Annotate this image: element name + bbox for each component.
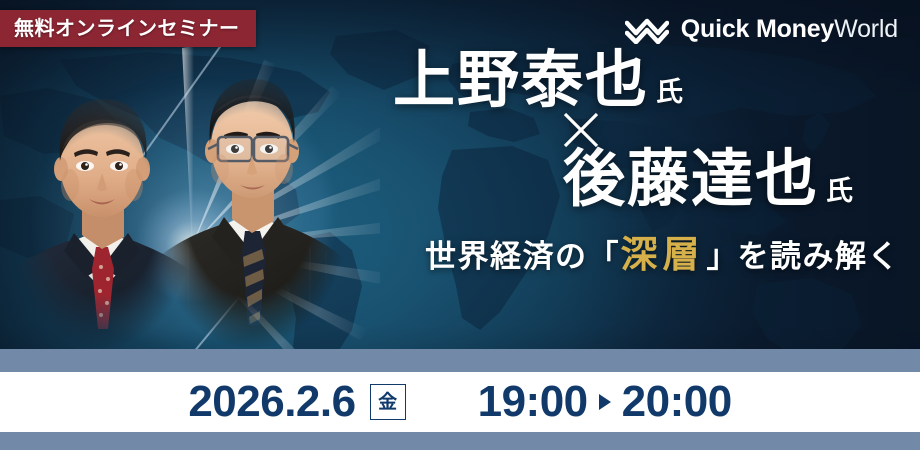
brand-logo[interactable]: Quick MoneyWorld: [625, 14, 898, 44]
subtitle-prefix: 世界経済の: [425, 231, 588, 276]
speaker-name-row-1: 上野泰也 氏: [330, 48, 902, 111]
event-start-time: 19:00: [478, 380, 588, 424]
subtitle-close-bracket: 」: [707, 231, 738, 276]
footer-white-band: 2026.2.6 金 19:00 20:00: [0, 372, 920, 432]
speaker-honorific-1: 氏: [656, 70, 684, 109]
day-of-week-box: 金: [370, 384, 406, 420]
badge-label: 無料オンラインセミナー: [14, 19, 240, 39]
seminar-banner: 無料オンラインセミナー Quick MoneyWorld: [0, 0, 920, 450]
speaker-honorific-2: 氏: [826, 169, 854, 208]
speaker-name-2: 後藤達也: [563, 147, 819, 210]
footer-top-bar: [0, 349, 920, 372]
seminar-subtitle: 世界経済の 「 深層 」 を読み解く: [330, 224, 902, 278]
logo-light-text: World: [834, 15, 898, 43]
logo-wordmark: Quick MoneyWorld: [681, 17, 898, 42]
time-range-arrow-icon: [599, 394, 611, 410]
subtitle-open-bracket: 「: [588, 231, 619, 276]
logo-bold-text: Quick Money: [681, 15, 834, 43]
event-time-group: 19:00 20:00: [478, 380, 732, 424]
speaker-name-row-2: 後藤達也 氏: [330, 147, 902, 210]
cross-x-icon: [560, 109, 602, 151]
event-date-group: 2026.2.6 金: [188, 380, 405, 424]
event-date: 2026.2.6: [188, 380, 355, 424]
footer-bottom-bar: [0, 432, 920, 450]
title-block: 上野泰也 氏 後藤達也 氏 世界経済の 「 深層 」 を読み解く: [330, 48, 902, 338]
free-seminar-badge: 無料オンラインセミナー: [0, 10, 256, 47]
speaker-name-1: 上野泰也: [393, 48, 649, 111]
subtitle-suffix: を読み解く: [738, 231, 901, 276]
speaker-photo-goto: [150, 61, 350, 349]
day-of-week: 金: [378, 393, 397, 412]
subtitle-highlight: 深層: [619, 224, 707, 278]
wave-zigzag-logo-icon: [625, 14, 669, 44]
schedule-footer: 2026.2.6 金 19:00 20:00: [0, 349, 920, 450]
event-end-time: 20:00: [622, 380, 732, 424]
